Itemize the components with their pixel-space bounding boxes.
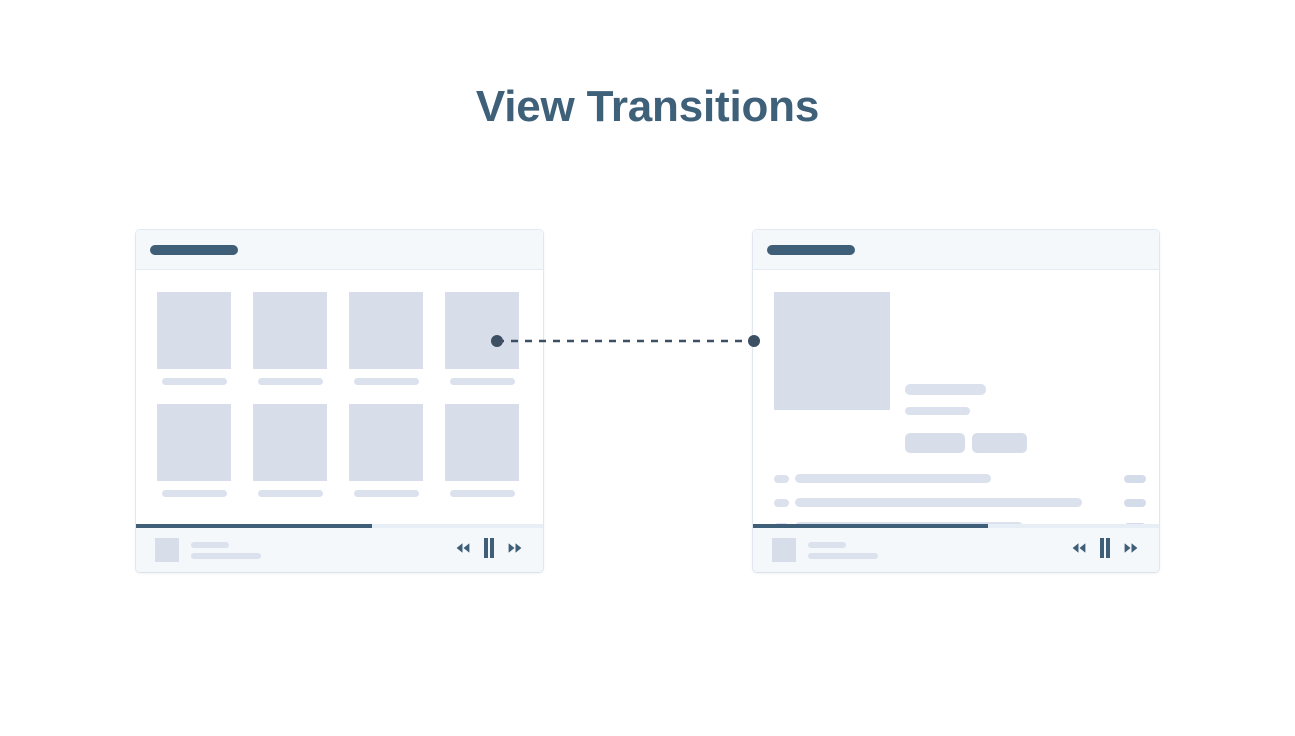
grid-panel-body [136,270,543,524]
pause-icon[interactable] [1097,537,1113,559]
track-row-title-placeholder [795,498,1082,507]
track-row-1[interactable] [753,470,1159,494]
player-controls [455,537,523,559]
fast-forward-icon[interactable] [1123,537,1139,559]
grid-item-2[interactable] [253,292,327,385]
thumbnail-caption [258,378,323,385]
player-bar[interactable] [136,524,543,572]
now-playing-subtitle-placeholder [191,553,261,559]
progress-track[interactable] [753,524,1159,528]
now-playing-artwork [155,538,179,562]
grid-row [157,292,527,385]
track-row-handle-icon [774,475,789,483]
thumbnail-caption [450,378,515,385]
thumbnail-image [157,292,231,369]
progress-track[interactable] [136,524,543,528]
thumbnail-caption [162,490,227,497]
thumbnail-caption [450,490,515,497]
thumbnail-image [349,404,423,481]
album-artwork-shared-element [774,292,890,410]
rewind-icon[interactable] [455,537,471,559]
track-row-2[interactable] [753,494,1159,518]
now-playing-title-placeholder [191,542,229,548]
app-title-bar-placeholder [767,245,855,255]
now-playing-artwork [772,538,796,562]
track-row-title-placeholder [795,474,991,483]
thumbnail-caption [162,378,227,385]
thumbnail-caption [354,490,419,497]
grid-item-6[interactable] [253,404,327,497]
now-playing-subtitle-placeholder [808,553,878,559]
player-controls [1071,537,1139,559]
pause-icon[interactable] [481,537,497,559]
progress-fill [136,524,372,528]
primary-action-button[interactable] [905,433,965,453]
detail-panel-body [753,270,1159,524]
now-playing-title-placeholder [808,542,846,548]
diagram-canvas: View Transitions [0,0,1295,736]
track-row-handle-icon [774,499,789,507]
player-bar[interactable] [753,524,1159,572]
track-row-duration-placeholder [1124,475,1146,483]
thumbnail-caption [354,378,419,385]
track-row-duration-placeholder [1124,499,1146,507]
grid-item-1[interactable] [157,292,231,385]
page-title: View Transitions [0,78,1295,136]
panel-header [136,230,543,270]
thumbnail-grid [157,292,527,516]
grid-item-7[interactable] [349,404,423,497]
detail-view-panel[interactable] [753,230,1159,572]
secondary-action-button[interactable] [972,433,1027,453]
panel-header [753,230,1159,270]
rewind-icon[interactable] [1071,537,1087,559]
grid-row [157,404,527,497]
thumbnail-image [349,292,423,369]
thumbnail-caption [258,490,323,497]
detail-heading-placeholder [905,384,986,395]
progress-fill [753,524,988,528]
thumbnail-image [253,292,327,369]
fast-forward-icon[interactable] [507,537,523,559]
grid-item-4[interactable] [445,292,519,385]
grid-item-8[interactable] [445,404,519,497]
app-title-bar-placeholder [150,245,238,255]
thumbnail-image [157,404,231,481]
thumbnail-image [253,404,327,481]
grid-item-3[interactable] [349,292,423,385]
grid-item-5[interactable] [157,404,231,497]
thumbnail-image [445,404,519,481]
detail-subheading-placeholder [905,407,970,415]
thumbnail-image-shared-element [445,292,519,369]
grid-view-panel[interactable] [136,230,543,572]
